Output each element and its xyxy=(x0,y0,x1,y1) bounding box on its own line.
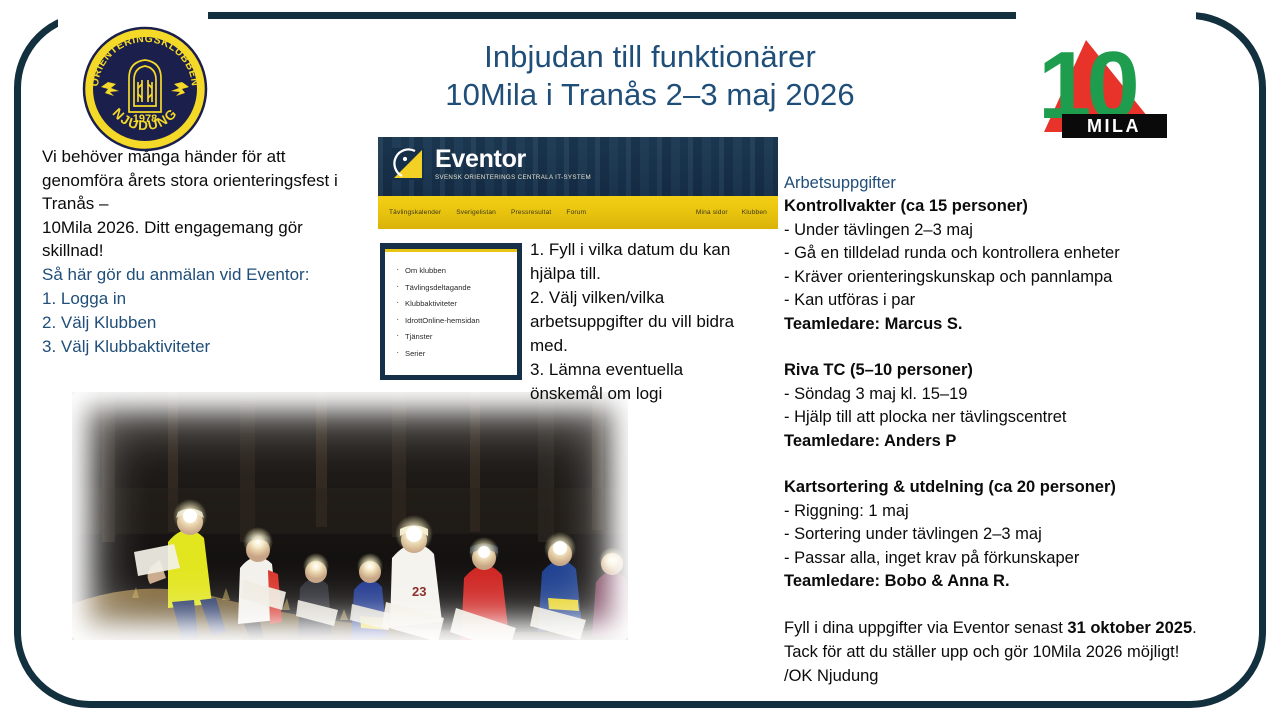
instruction-line-6: 3. Lämna eventuella xyxy=(530,358,780,382)
eventor-navbar: Tävlingskalender Sverigelistan Pressresu… xyxy=(378,196,778,229)
nav-item-mina-sidor[interactable]: Mina sidor xyxy=(696,209,728,216)
task-team-leader: Teamledare: Bobo & Anna R. xyxy=(784,570,1250,594)
eventor-site-screenshot: Eventor SVENSK ORIENTERINGS CENTRALA IT-… xyxy=(378,137,778,229)
registration-step-3: 3. Välj Klubbaktiviteter xyxy=(42,335,382,359)
photo-content: 23 xyxy=(72,392,628,640)
instruction-line-1: 1. Fyll i vilka datum du kan xyxy=(530,238,780,262)
eventor-compass-icon xyxy=(390,146,426,182)
club-menu-item-klubbaktiviteter[interactable]: Klubbaktiviteter xyxy=(395,296,509,313)
task-title: Kartsortering & utdelning (ca 20 persone… xyxy=(784,476,1250,500)
eventor-nav-left: Tävlingskalender Sverigelistan Pressresu… xyxy=(389,209,586,216)
nav-item-forum[interactable]: Forum xyxy=(566,209,586,216)
club-menu-item-tavlingsdeltagande[interactable]: Tävlingsdeltagande xyxy=(395,280,509,297)
task-bullet: - Passar alla, inget krav på förkunskape… xyxy=(784,547,1250,571)
deadline-prefix: Fyll i dina uppgifter via Eventor senast xyxy=(784,619,1067,637)
lead-line-3: Tranås – xyxy=(42,192,382,216)
footer-spacer xyxy=(784,594,1250,616)
tasks-section-heading: Arbetsuppgifter xyxy=(784,172,1250,195)
instruction-line-4: arbetsuppgifter du vill bidra xyxy=(530,310,780,334)
instruction-line-2: hjälpa till. xyxy=(530,262,780,286)
eventor-subtitle: SVENSK ORIENTERINGS CENTRALA IT-SYSTEM xyxy=(435,173,591,182)
task-bullet: - Kräver orienteringskunskap och pannlam… xyxy=(784,266,1250,290)
lead-line-5: skillnad! xyxy=(42,239,382,263)
task-team-leader: Teamledare: Anders P xyxy=(784,430,1250,454)
club-logo-year: 1978 xyxy=(133,113,157,125)
task-spacer xyxy=(784,336,1250,359)
nav-item-pressresultat[interactable]: Pressresultat xyxy=(511,209,551,216)
club-menu-item-idrottonline-hemsidan[interactable]: IdrottOnline-hemsidan xyxy=(395,313,509,330)
club-menu-list: Om klubben Tävlingsdeltagande Klubbaktiv… xyxy=(395,263,509,362)
registration-step-1: 1. Logga in xyxy=(42,287,382,311)
signature-line: /OK Njudung xyxy=(784,664,1250,688)
task-title: Kontrollvakter (ca 15 personer) xyxy=(784,195,1250,219)
task-block-kontrollvakter: Kontrollvakter (ca 15 personer) - Under … xyxy=(784,195,1250,336)
deadline-line: Fyll i dina uppgifter via Eventor senast… xyxy=(784,616,1250,640)
title-line-1: Inbjudan till funktionärer xyxy=(330,38,970,76)
ok-njudung-logo: ORIENTERINGSKLUBBEN NJUDUNG 1978 xyxy=(82,26,208,152)
instruction-line-3: 2. Välj vilken/vilka xyxy=(530,286,780,310)
task-title: Riva TC (5–10 personer) xyxy=(784,359,1250,383)
title-line-2: 10Mila i Tranås 2–3 maj 2026 xyxy=(330,76,970,114)
nav-item-sverigelistan[interactable]: Sverigelistan xyxy=(456,209,496,216)
task-bullet: - Riggning: 1 maj xyxy=(784,500,1250,524)
registration-heading: Så här gör du anmälan vid Eventor: xyxy=(42,263,382,287)
task-block-kartsortering: Kartsortering & utdelning (ca 20 persone… xyxy=(784,476,1250,594)
instruction-line-7: önskemål om logi xyxy=(530,382,780,406)
night-orienteering-photo: 23 xyxy=(72,392,628,640)
deadline-date: 31 oktober 2025 xyxy=(1067,619,1192,637)
club-menu-item-serier[interactable]: Serier xyxy=(395,346,509,363)
club-menu-item-tjanster[interactable]: Tjänster xyxy=(395,329,509,346)
task-bullet: - Kan utföras i par xyxy=(784,289,1250,313)
closing-paragraph: Fyll i dina uppgifter via Eventor senast… xyxy=(784,616,1250,688)
svg-text:23: 23 xyxy=(412,584,426,599)
lead-line-2: genomföra årets stora orienteringsfest i xyxy=(42,169,382,193)
page-title: Inbjudan till funktionärer 10Mila i Tran… xyxy=(330,38,970,114)
club-menu-item-om-klubben[interactable]: Om klubben xyxy=(395,263,509,280)
task-bullet: - Söndag 3 maj kl. 15–19 xyxy=(784,383,1250,407)
left-text-column: Vi behöver många händer för att genomför… xyxy=(42,145,382,359)
tasks-column: Arbetsuppgifter Kontrollvakter (ca 15 pe… xyxy=(784,172,1250,688)
task-bullet: - Hjälp till att plocka ner tävlingscent… xyxy=(784,406,1250,430)
10mila-logo-word: MILA xyxy=(1087,116,1141,136)
invitation-slide: ORIENTERINGSKLUBBEN NJUDUNG 1978 xyxy=(0,0,1280,720)
nav-item-tavlingskalender[interactable]: Tävlingskalender xyxy=(389,209,441,216)
lead-line-4: 10Mila 2026. Ditt engagemang gör xyxy=(42,216,382,240)
middle-instructions: 1. Fyll i vilka datum du kan hjälpa till… xyxy=(530,238,780,406)
task-bullet: - Gå en tilldelad runda och kontrollera … xyxy=(784,242,1250,266)
task-spacer xyxy=(784,453,1250,476)
thanks-line: Tack för att du ställer upp och gör 10Mi… xyxy=(784,640,1250,664)
nav-item-klubben[interactable]: Klubben xyxy=(742,209,767,216)
task-bullet: - Under tävlingen 2–3 maj xyxy=(784,219,1250,243)
task-team-leader: Teamledare: Marcus S. xyxy=(784,313,1250,337)
10mila-logo: 10 MILA xyxy=(1026,26,1184,144)
instruction-line-5: med. xyxy=(530,334,780,358)
task-bullet: - Sortering under tävlingen 2–3 maj xyxy=(784,523,1250,547)
deadline-suffix: . xyxy=(1192,619,1197,637)
task-block-riva-tc: Riva TC (5–10 personer) - Söndag 3 maj k… xyxy=(784,359,1250,453)
club-menu-panel: Om klubben Tävlingsdeltagande Klubbaktiv… xyxy=(385,249,517,375)
eventor-club-menu-screenshot: Om klubben Tävlingsdeltagande Klubbaktiv… xyxy=(380,243,522,380)
eventor-brand: Eventor SVENSK ORIENTERINGS CENTRALA IT-… xyxy=(390,146,591,182)
registration-step-2: 2. Välj Klubben xyxy=(42,311,382,335)
eventor-wordmark: Eventor xyxy=(435,146,591,172)
eventor-nav-right: Mina sidor Klubben xyxy=(696,209,767,216)
